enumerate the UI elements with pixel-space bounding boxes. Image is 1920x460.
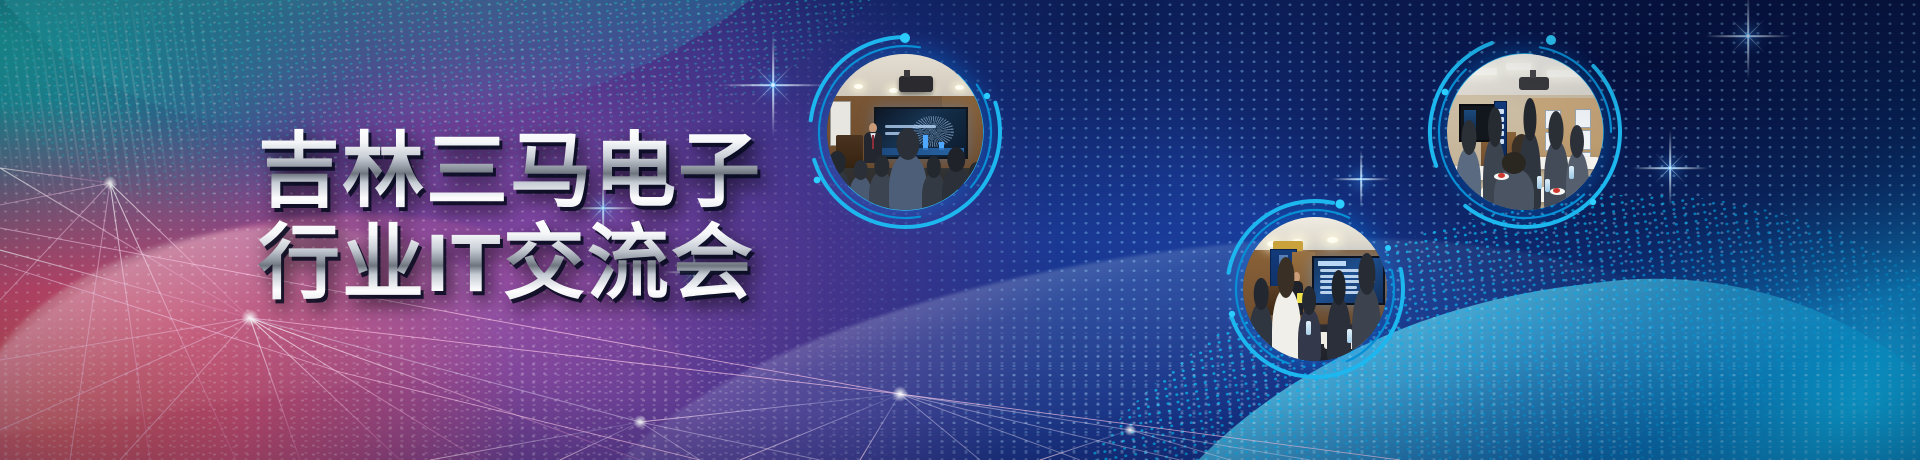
title-line-primary: 吉林三马电子: [258, 128, 762, 216]
page-title: 吉林三马电子 行业IT交流会: [258, 128, 762, 308]
event-banner: 吉林三马电子 行业IT交流会: [0, 0, 1920, 460]
title-line-secondary: 行业IT交流会: [258, 220, 762, 308]
